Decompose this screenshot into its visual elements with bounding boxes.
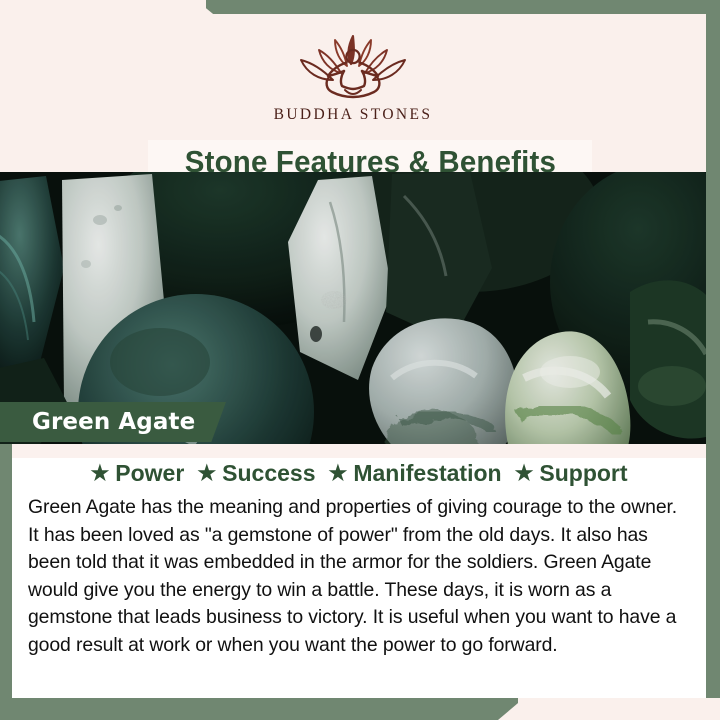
benefit-item-success: ★ Success: [197, 460, 315, 487]
star-icon: ★: [90, 463, 109, 484]
benefit-item-support: ★ Support: [515, 460, 628, 487]
frame-notch-bottom-right: [518, 698, 720, 720]
poster-header: BUDDHA STONES Stone Features & Benefits: [0, 14, 706, 172]
card-top-tint: [12, 444, 706, 458]
lotus-meditation-icon: [285, 28, 421, 104]
stone-features-poster: BUDDHA STONES Stone Features & Benefits: [0, 0, 720, 720]
star-icon: ★: [515, 463, 534, 484]
benefit-item-manifestation: ★ Manifestation: [329, 460, 502, 487]
benefit-item-power: ★ Power: [90, 460, 184, 487]
stone-description: Green Agate has the meaning and properti…: [28, 494, 692, 659]
star-icon: ★: [197, 463, 216, 484]
content-card: ★ Power ★ Success ★ Manifestation ★ Supp…: [12, 444, 706, 698]
star-icon: ★: [329, 463, 348, 484]
benefit-label: Power: [115, 460, 184, 487]
brand-name: BUDDHA STONES: [274, 106, 433, 124]
stone-name-banner: Green Agate: [0, 402, 226, 442]
benefit-label: Support: [539, 460, 627, 487]
benefit-label: Success: [222, 460, 315, 487]
brand-logo: BUDDHA STONES: [0, 28, 706, 124]
stone-name-label: Green Agate: [32, 409, 195, 435]
benefits-row: ★ Power ★ Success ★ Manifestation ★ Supp…: [12, 460, 706, 487]
benefit-label: Manifestation: [353, 460, 501, 487]
